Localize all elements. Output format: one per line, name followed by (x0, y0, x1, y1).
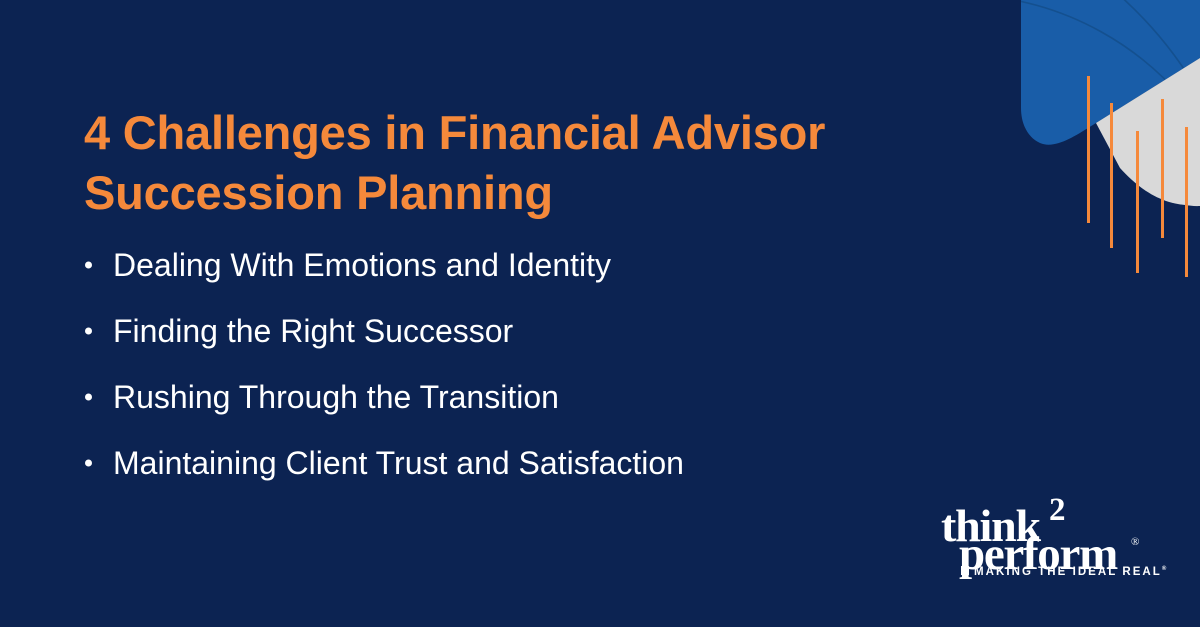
orange-bar-1 (1087, 76, 1090, 223)
gray-band-shape (1096, 58, 1200, 205)
list-item-label: Rushing Through the Transition (113, 381, 559, 413)
list-item-label: Maintaining Client Trust and Satisfactio… (113, 447, 684, 479)
bullet-dot-icon (85, 262, 92, 269)
bullet-dot-icon (85, 460, 92, 467)
decorative-corner-graphic (1000, 0, 1200, 300)
bullet-dot-icon (85, 328, 92, 335)
list-item: Maintaining Client Trust and Satisfactio… (84, 430, 964, 496)
list-item-label: Dealing With Emotions and Identity (113, 249, 611, 281)
orange-bar-4 (1161, 99, 1164, 238)
list-item-label: Finding the Right Successor (113, 315, 513, 347)
arc-line-inner (1075, 0, 1200, 118)
list-item: Rushing Through the Transition (84, 364, 964, 430)
logo-superscript-two: 2 (1049, 494, 1066, 527)
logo-registered-mark: ® (1131, 537, 1139, 548)
orange-bar-3 (1136, 131, 1139, 273)
challenges-list: Dealing With Emotions and Identity Findi… (84, 232, 964, 496)
orange-bar-2 (1110, 103, 1113, 248)
page-title: 4 Challenges in Financial Advisor Succes… (84, 103, 944, 222)
slide-canvas: 4 Challenges in Financial Advisor Succes… (0, 0, 1200, 627)
logo-tagline-text: MAKING THE IDEAL REAL (974, 566, 1162, 578)
bullet-dot-icon (85, 394, 92, 401)
blue-panel-shape (1021, 0, 1200, 145)
list-item: Dealing With Emotions and Identity (84, 232, 964, 298)
logo-tagline-rule (961, 566, 969, 575)
orange-bar-5 (1185, 127, 1188, 277)
arc-lines-group (1000, 0, 1200, 128)
list-item: Finding the Right Successor (84, 298, 964, 364)
arc-line-outer (1000, 0, 1200, 128)
think2perform-logo: think 2 perform ® MAKING THE IDEAL REAL® (937, 503, 1142, 583)
page-title-line-1: 4 Challenges in Financial Advisor (84, 103, 944, 163)
logo-tagline-registered-mark: ® (1162, 566, 1166, 572)
page-title-line-2: Succession Planning (84, 163, 944, 223)
logo-tagline: MAKING THE IDEAL REAL® (974, 566, 1166, 578)
gray-band-extension (1150, 150, 1200, 206)
